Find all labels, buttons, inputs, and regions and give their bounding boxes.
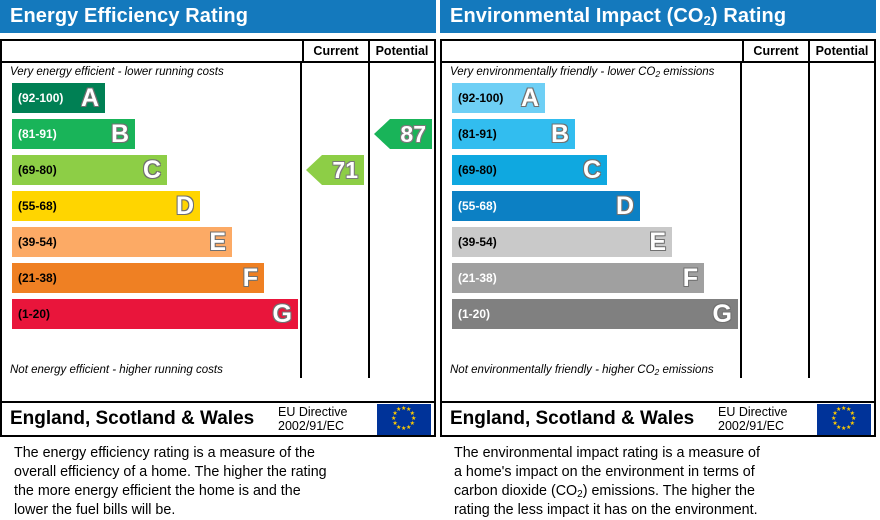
environmental-footer: England, Scotland & Wales EU Directive 2… (440, 401, 876, 437)
rating-bar-letter-e: E (649, 230, 666, 255)
rating-bar-range-d: (55-68) (18, 199, 57, 213)
rating-bar-range-b: (81-91) (458, 127, 497, 141)
rating-bar-range-f: (21-38) (458, 271, 497, 285)
environmental-footer-directive: EU Directive 2002/91/EC (718, 403, 814, 435)
rating-bar-range-g: (1-20) (18, 307, 50, 321)
rating-bar-e: (39-54)E (12, 227, 232, 257)
eu-star-icon: ★ (401, 426, 406, 432)
rating-bar-f: (21-38)F (12, 263, 264, 293)
eu-star-icon: ★ (846, 425, 851, 431)
rating-bar-c: (69-80)C (12, 155, 167, 185)
rating-bar-letter-e: E (209, 230, 226, 255)
rating-bar-c: (69-80)C (452, 155, 607, 185)
environmental-chart-title: Environmental Impact (CO2) Rating (440, 0, 876, 33)
rating-bar-e: (39-54)E (452, 227, 672, 257)
rating-bar-range-b: (81-91) (18, 127, 57, 141)
environmental-chart-body: Very environmentally friendly - lower CO… (442, 63, 874, 378)
rating-bar-f: (21-38)F (452, 263, 704, 293)
rating-bar-range-a: (92-100) (458, 91, 503, 105)
environmental-chart-title-text: Environmental Impact (CO2) Rating (450, 5, 786, 28)
energy-header-current: Current (302, 41, 368, 61)
environmental-caption: The environmental impact rating is a mea… (440, 444, 876, 520)
environmental-directive-line1: EU Directive (718, 405, 814, 419)
environmental-header-blank (442, 41, 742, 61)
rating-bar-letter-d: D (616, 194, 634, 219)
environmental-footer-country: England, Scotland & Wales (442, 403, 718, 435)
environmental-impact-rating-chart: Environmental Impact (CO2) Rating Curren… (440, 0, 876, 520)
eu-flag-box: ★★★★★★★★★★★★ (817, 404, 871, 435)
rating-bar-d: (55-68)D (452, 191, 640, 221)
energy-bottom-note: Not energy efficient - higher running co… (10, 364, 223, 376)
energy-chart-frame: Current Potential Very energy efficient … (0, 39, 436, 403)
eu-star-icon: ★ (841, 426, 846, 432)
rating-bar-range-e: (39-54) (458, 235, 497, 249)
energy-chart-title-text: Energy Efficiency Rating (10, 5, 248, 28)
energy-chart-title: Energy Efficiency Rating (0, 0, 436, 33)
energy-divider-potential (368, 63, 370, 378)
eu-flag-box: ★★★★★★★★★★★★ (377, 404, 431, 435)
energy-chart-body: Very energy efficient - lower running co… (2, 63, 434, 378)
rating-bar-letter-g: G (713, 302, 732, 327)
energy-footer: England, Scotland & Wales EU Directive 2… (0, 401, 436, 437)
environmental-bottom-note: Not environmentally friendly - higher CO… (450, 364, 714, 376)
rating-bar-range-d: (55-68) (458, 199, 497, 213)
rating-bar-range-c: (69-80) (18, 163, 57, 177)
eu-star-icon: ★ (406, 425, 411, 431)
rating-bar-range-e: (39-54) (18, 235, 57, 249)
energy-efficiency-rating-chart: Energy Efficiency Rating Current Potenti… (0, 0, 436, 520)
potential-rating-arrow: 87 (374, 119, 432, 149)
energy-header-potential: Potential (368, 41, 434, 61)
rating-bar-a: (92-100)A (452, 83, 545, 113)
rating-bar-letter-a: A (81, 86, 99, 111)
environmental-bars: (92-100)A(81-91)B(69-80)C(55-68)D(39-54)… (452, 83, 738, 335)
environmental-header-potential: Potential (808, 41, 874, 61)
energy-directive-line1: EU Directive (278, 405, 374, 419)
rating-bar-letter-a: A (521, 86, 539, 111)
rating-bar-letter-b: B (111, 122, 129, 147)
rating-bar-letter-c: C (583, 158, 601, 183)
rating-bar-d: (55-68)D (12, 191, 200, 221)
energy-caption: The energy efficiency rating is a measur… (0, 444, 436, 520)
environmental-header-current: Current (742, 41, 808, 61)
rating-bar-range-a: (92-100) (18, 91, 63, 105)
energy-top-note: Very energy efficient - lower running co… (10, 66, 224, 78)
rating-bar-range-c: (69-80) (458, 163, 497, 177)
energy-footer-directive: EU Directive 2002/91/EC (278, 403, 374, 435)
eu-flag-icon: ★★★★★★★★★★★★ (814, 403, 874, 435)
epc-certificate-graphs: Energy Efficiency Rating Current Potenti… (0, 0, 880, 493)
rating-bar-letter-f: F (683, 266, 698, 291)
energy-chart-header-row: Current Potential (2, 41, 434, 63)
eu-flag-icon: ★★★★★★★★★★★★ (374, 403, 434, 435)
energy-divider-current (300, 63, 302, 378)
environmental-directive-line2: 2002/91/EC (718, 419, 814, 433)
rating-bar-b: (81-91)B (452, 119, 575, 149)
environmental-divider-current (740, 63, 742, 378)
rating-bar-a: (92-100)A (12, 83, 105, 113)
rating-bar-letter-g: G (273, 302, 292, 327)
energy-header-blank (2, 41, 302, 61)
environmental-chart-header-row: Current Potential (442, 41, 874, 63)
eu-star-icon: ★ (396, 407, 401, 413)
rating-bar-letter-d: D (176, 194, 194, 219)
rating-bar-letter-b: B (551, 122, 569, 147)
eu-star-icon: ★ (836, 407, 841, 413)
rating-bar-g: (1-20)G (452, 299, 738, 329)
environmental-divider-potential (808, 63, 810, 378)
energy-bars: (92-100)A(81-91)B(69-80)C(55-68)D(39-54)… (12, 83, 298, 335)
rating-bar-letter-c: C (143, 158, 161, 183)
environmental-chart-frame: Current Potential Very environmentally f… (440, 39, 876, 403)
rating-bar-b: (81-91)B (12, 119, 135, 149)
environmental-top-note: Very environmentally friendly - lower CO… (450, 66, 714, 78)
energy-footer-country: England, Scotland & Wales (2, 403, 278, 435)
rating-bar-range-g: (1-20) (458, 307, 490, 321)
rating-bar-letter-f: F (243, 266, 258, 291)
rating-bar-range-f: (21-38) (18, 271, 57, 285)
rating-bar-g: (1-20)G (12, 299, 298, 329)
energy-directive-line2: 2002/91/EC (278, 419, 374, 433)
current-rating-arrow: 71 (306, 155, 364, 185)
